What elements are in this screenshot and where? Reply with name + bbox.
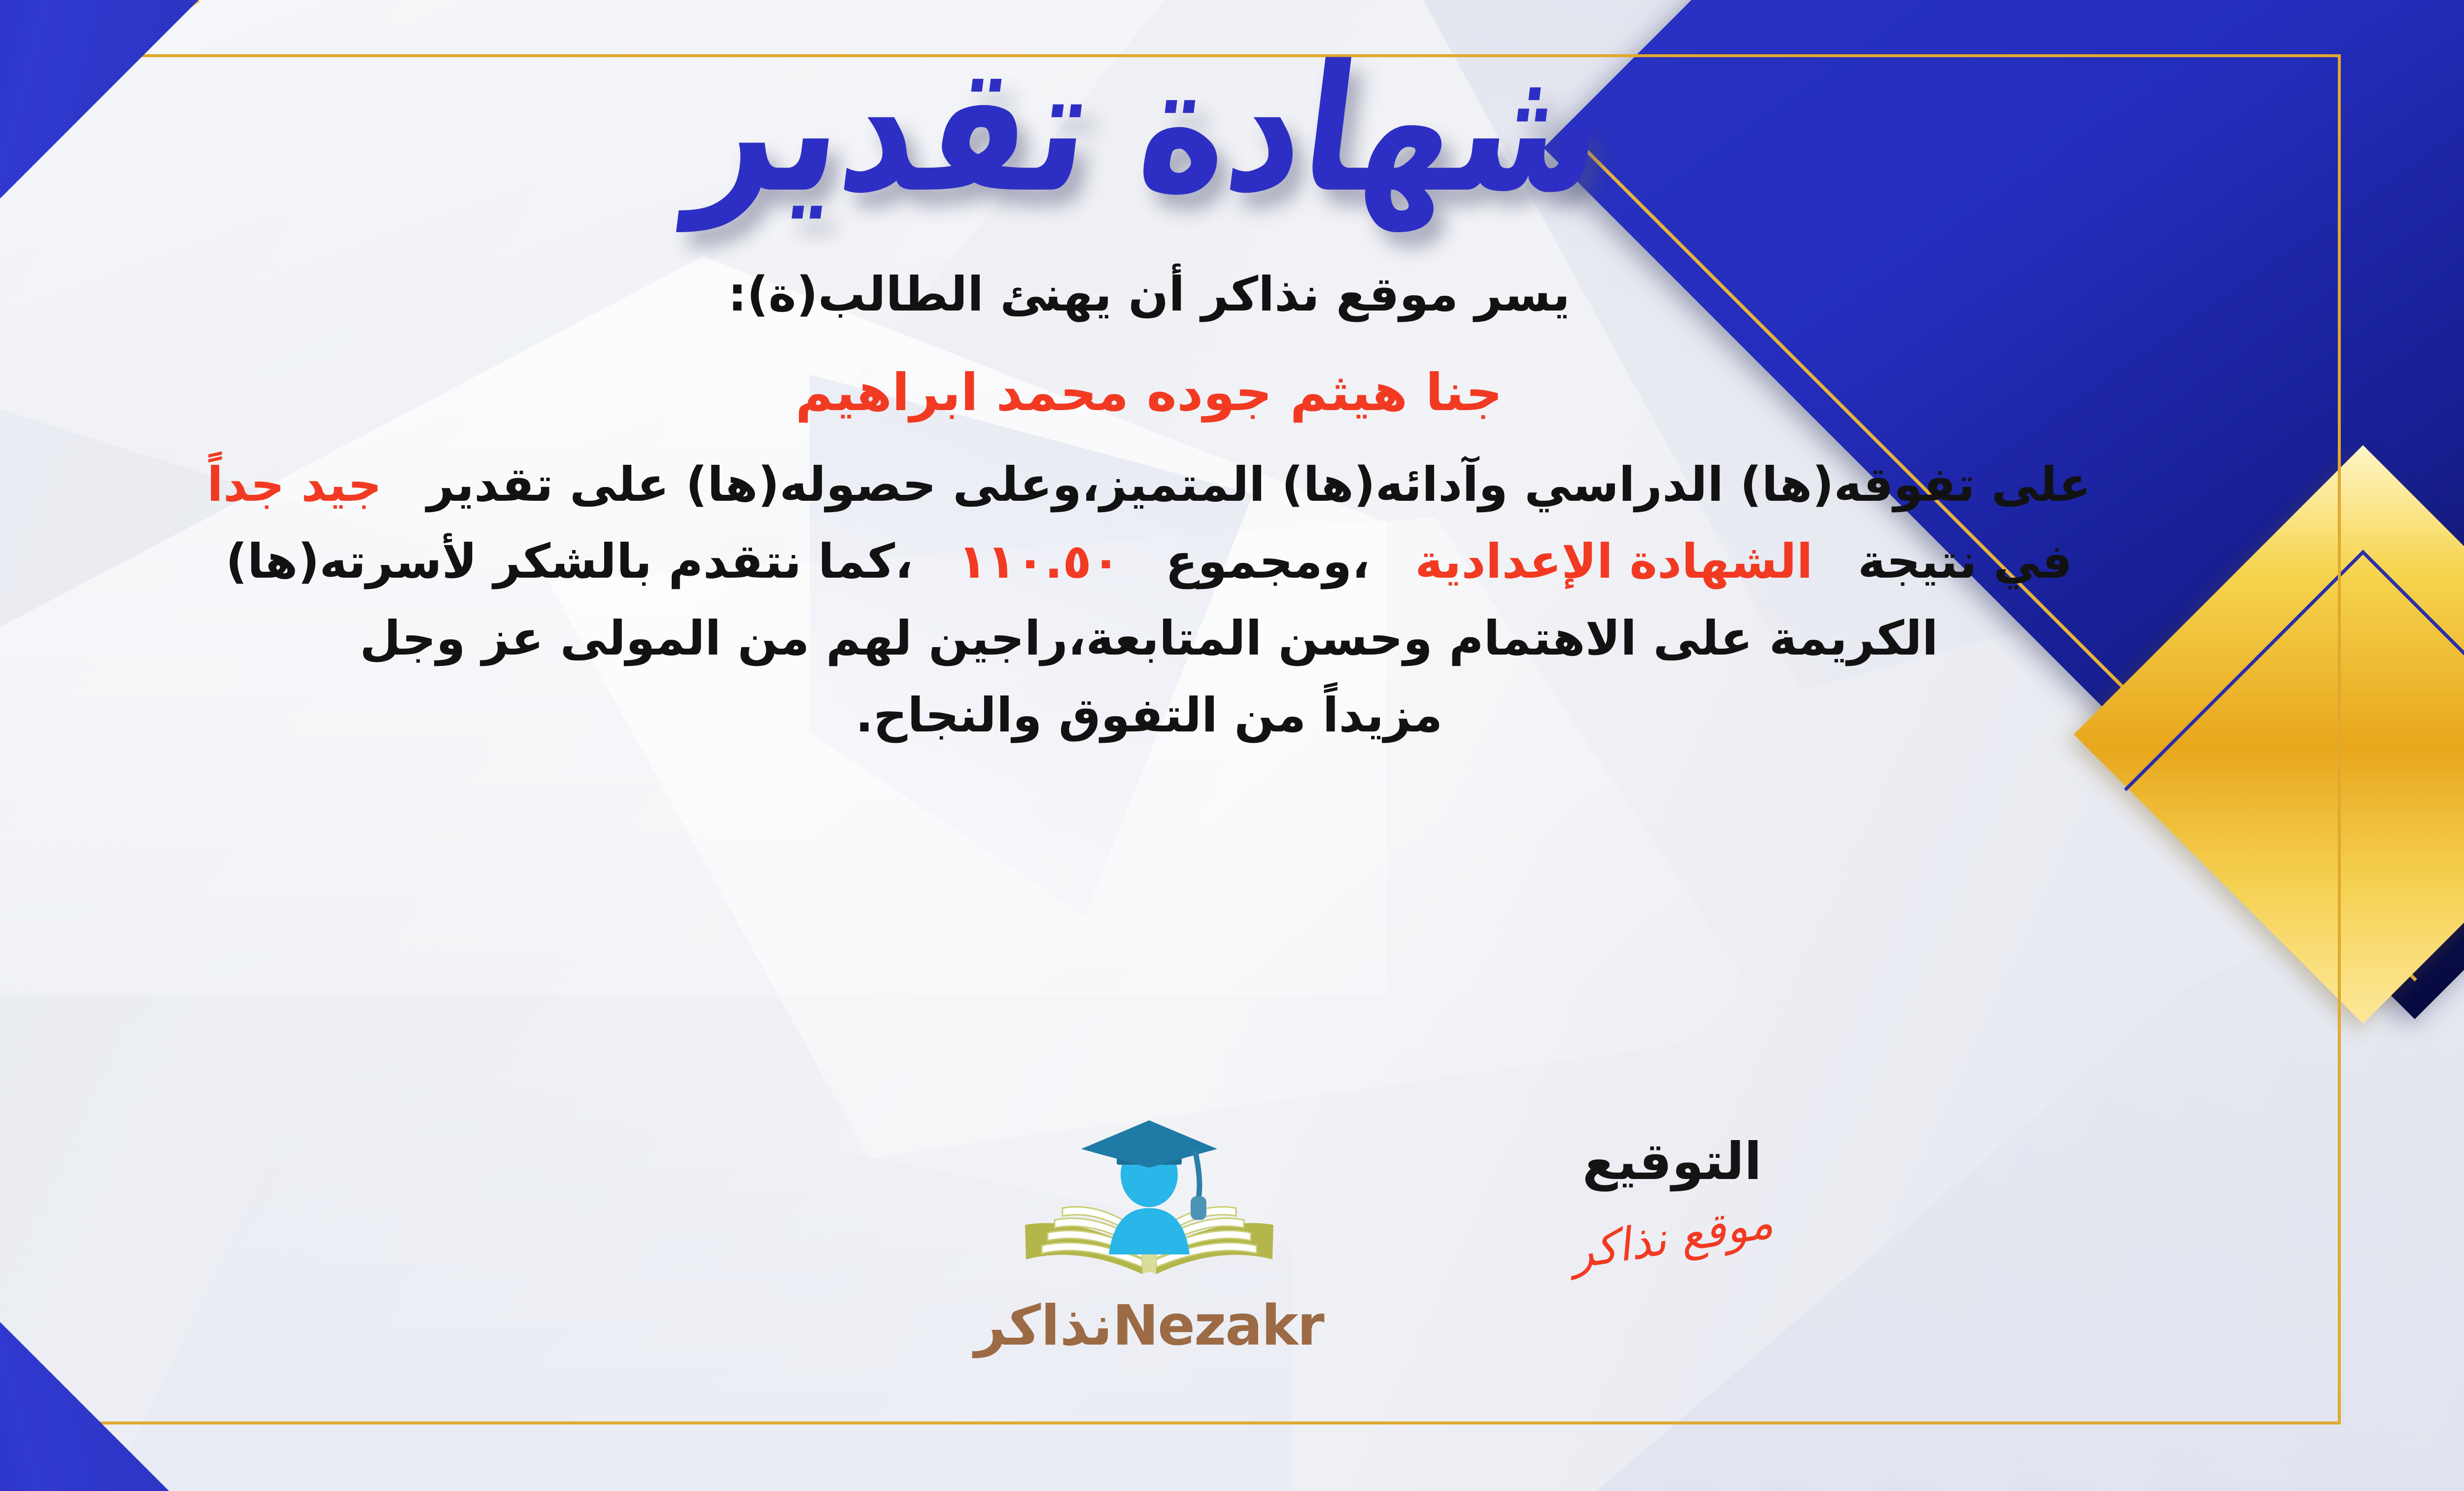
- family-thanks-line: الكريمة على الاهتمام وحسن المتابعة،راجين…: [0, 603, 2301, 675]
- achievement-text: على تفوقه(ها) الدراسي وآدائه(ها) المتميز…: [427, 457, 2091, 512]
- logo-wordmark: Nezakrنذاكر: [913, 1294, 1386, 1358]
- logo-wordmark-ar: نذاكر: [974, 1294, 1112, 1358]
- certificate-title: شهادة تقدير: [681, 12, 1617, 247]
- brand-logo: Nezakrنذاكر: [913, 1111, 1386, 1358]
- thanks-text: ،كما نتقدم بالشكر لأسرته(ها): [226, 534, 913, 589]
- graduate-on-open-book-icon: [996, 1111, 1302, 1304]
- logo-wordmark-en: Nezakr: [1112, 1294, 1323, 1358]
- certificate-page: شهادة تقدير يسر موقع نذاكر أن يهنئ الطال…: [0, 0, 2464, 1491]
- signature-label: التوقيع: [1450, 1131, 1894, 1191]
- certificate-footer: التوقيع موقع نذاكر: [0, 1111, 2301, 1417]
- result-prefix: في نتيجة: [1858, 534, 2072, 589]
- result-line: في نتيجة الشهادة الإعدادية ،ومجموع ١١٠.٥…: [0, 526, 2301, 598]
- total-score: ١١٠.٥٠: [958, 534, 1120, 589]
- total-label: ،ومجموع: [1165, 534, 1370, 589]
- exam-name: الشهادة الإعدادية: [1415, 534, 1813, 589]
- certificate-body: يسر موقع نذاكر أن يهنئ الطالب(ة): جنا هي…: [0, 259, 2301, 752]
- achievement-line: على تفوقه(ها) الدراسي وآدائه(ها) المتميز…: [0, 449, 2301, 521]
- student-name: جنا هيثم جوده محمد ابراهيم: [0, 353, 2301, 431]
- closing-line: مزيداً من التفوق والنجاح.: [0, 680, 2301, 752]
- intro-line: يسر موقع نذاكر أن يهنئ الطالب(ة):: [0, 259, 2301, 331]
- signature-mark: موقع نذاكر: [1568, 1195, 1777, 1279]
- grade-value: جيد جداً: [207, 457, 382, 512]
- signature-block: التوقيع موقع نذاكر: [1450, 1131, 1894, 1264]
